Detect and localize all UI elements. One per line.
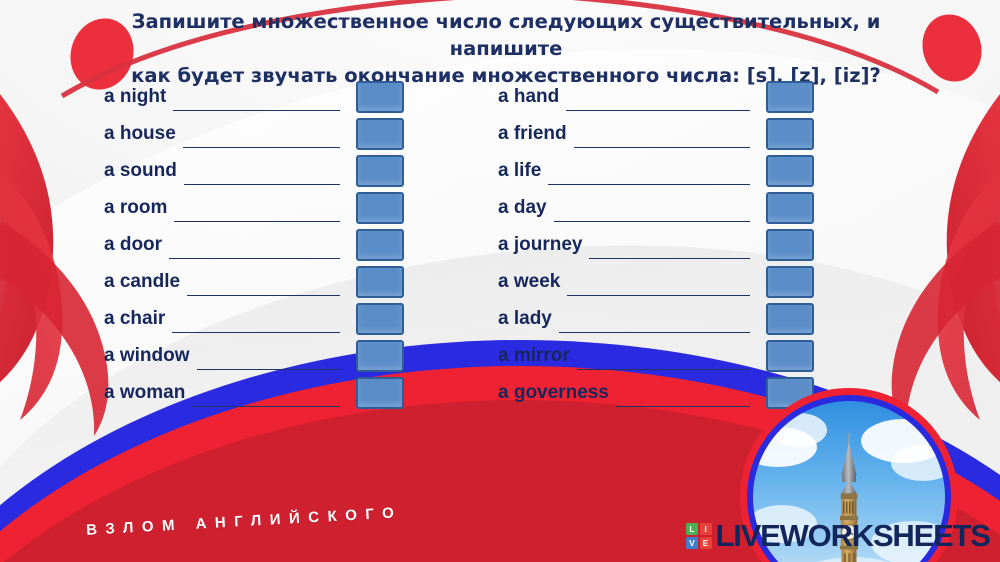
noun-label: a candle: [104, 271, 180, 293]
exercise-column-right: a handa frienda lifea daya journeya week…: [498, 78, 814, 412]
ending-answer-box[interactable]: [356, 266, 404, 298]
plural-blank-line[interactable]: [616, 389, 750, 407]
plural-blank-line[interactable]: [574, 130, 750, 148]
ending-answer-box[interactable]: [766, 192, 814, 224]
ending-answer-box[interactable]: [356, 192, 404, 224]
noun-label: a day: [498, 197, 547, 219]
logo-tile-l: L: [686, 523, 698, 535]
noun-label: a journey: [498, 234, 582, 256]
ending-answer-box[interactable]: [356, 303, 404, 335]
ending-answer-box[interactable]: [766, 229, 814, 261]
plural-blank-line[interactable]: [548, 167, 750, 185]
ending-answer-box[interactable]: [766, 155, 814, 187]
plural-blank-line[interactable]: [169, 241, 340, 259]
noun-label: a friend: [498, 123, 567, 145]
plural-blank-line[interactable]: [183, 130, 340, 148]
exercise-row: a window: [104, 338, 404, 375]
noun-label: a lady: [498, 308, 552, 330]
exercise-row: a journey: [498, 226, 814, 263]
noun-label: a night: [104, 86, 166, 108]
exercise-column-left: a nighta housea sounda rooma doora candl…: [104, 78, 404, 412]
noun-label: a life: [498, 160, 541, 182]
exercise-row: a room: [104, 189, 404, 226]
noun-label: a hand: [498, 86, 559, 108]
plural-blank-line[interactable]: [192, 389, 340, 407]
logo-tile-i: I: [700, 523, 712, 535]
exercise-row: a life: [498, 152, 814, 189]
ending-answer-box[interactable]: [766, 81, 814, 113]
plural-blank-line[interactable]: [173, 93, 340, 111]
plural-blank-line[interactable]: [197, 352, 341, 370]
plural-blank-line[interactable]: [577, 352, 750, 370]
logo-wordmark: LIVEWORKSHEETS: [716, 518, 990, 554]
ending-answer-box[interactable]: [356, 340, 404, 372]
plural-blank-line[interactable]: [554, 204, 750, 222]
liveworksheets-logo[interactable]: LIVE LIVEWORKSHEETS: [686, 518, 990, 554]
noun-label: a door: [104, 234, 162, 256]
plural-blank-line[interactable]: [567, 278, 750, 296]
ending-answer-box[interactable]: [356, 377, 404, 409]
plural-blank-line[interactable]: [174, 204, 340, 222]
exercise-row: a door: [104, 226, 404, 263]
ending-answer-box[interactable]: [356, 155, 404, 187]
noun-label: a woman: [104, 382, 185, 404]
page-title: Запишите множественное число следующих с…: [92, 8, 920, 89]
exercise-row: a night: [104, 78, 404, 115]
plural-blank-line[interactable]: [589, 241, 750, 259]
exercise-row: a week: [498, 263, 814, 300]
ending-answer-box[interactable]: [766, 340, 814, 372]
noun-label: a room: [104, 197, 167, 219]
ending-answer-box[interactable]: [356, 118, 404, 150]
plural-blank-line[interactable]: [559, 315, 750, 333]
exercise-row: a chair: [104, 301, 404, 338]
exercise-row: a mirror: [498, 338, 814, 375]
exercise-row: a lady: [498, 301, 814, 338]
ending-answer-box[interactable]: [766, 118, 814, 150]
exercise-row: a candle: [104, 263, 404, 300]
noun-label: a chair: [104, 308, 165, 330]
ending-answer-box[interactable]: [356, 229, 404, 261]
logo-tiles: LIVE: [686, 523, 712, 549]
plural-blank-line[interactable]: [184, 167, 340, 185]
plural-blank-line[interactable]: [172, 315, 340, 333]
noun-label: a window: [104, 345, 190, 367]
exercise-row: a friend: [498, 115, 814, 152]
ending-answer-box[interactable]: [766, 266, 814, 298]
noun-label: a house: [104, 123, 176, 145]
exercise-row: a woman: [104, 375, 404, 412]
logo-tile-v: V: [686, 537, 698, 549]
plural-blank-line[interactable]: [187, 278, 340, 296]
logo-tile-e: E: [700, 537, 712, 549]
noun-label: a governess: [498, 382, 609, 404]
noun-label: a week: [498, 271, 560, 293]
ending-answer-box[interactable]: [356, 81, 404, 113]
noun-label: a sound: [104, 160, 177, 182]
worksheet-canvas: ВЗЛОМ АНГЛИЙСКОГО Запишите множественное…: [0, 0, 1000, 562]
plural-blank-line[interactable]: [566, 93, 750, 111]
exercise-row: a sound: [104, 152, 404, 189]
ending-answer-box[interactable]: [766, 303, 814, 335]
page-title-line1: Запишите множественное число следующих с…: [132, 10, 881, 60]
exercise-row: a house: [104, 115, 404, 152]
exercise-row: a hand: [498, 78, 814, 115]
noun-label: a mirror: [498, 345, 570, 367]
exercise-row: a day: [498, 189, 814, 226]
